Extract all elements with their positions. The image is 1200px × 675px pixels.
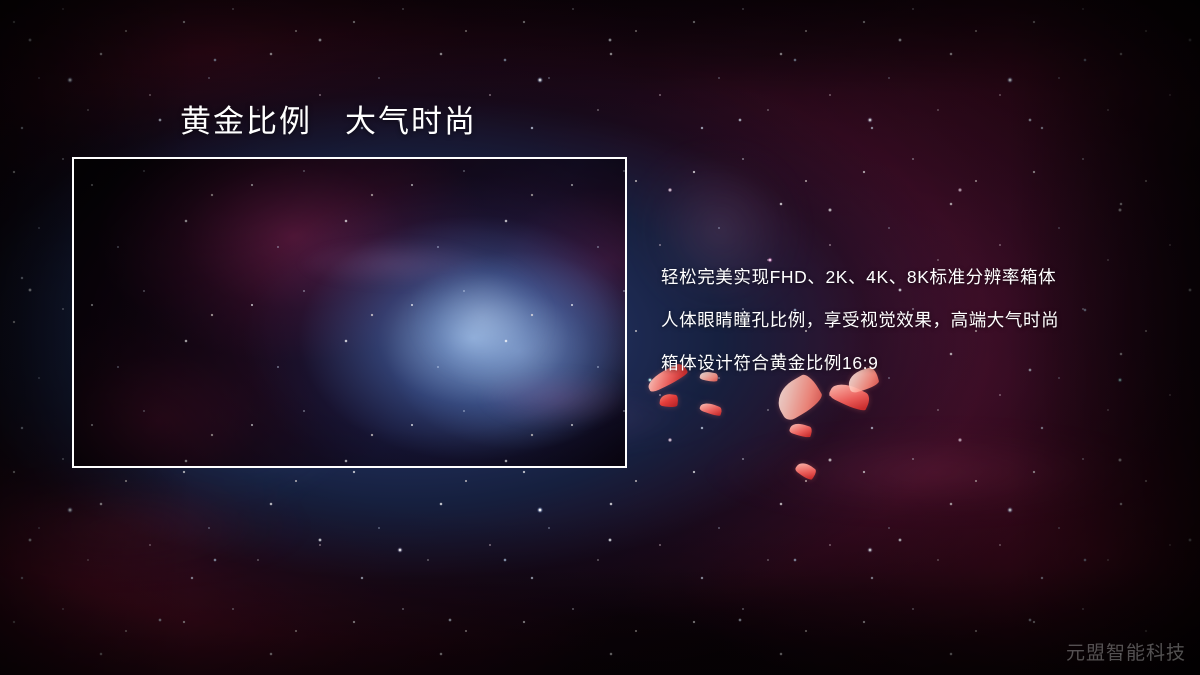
slide-title: 黄金比例 大气时尚 (180, 103, 477, 140)
flower-petal (794, 459, 818, 481)
body-line-1: 轻松完美实现FHD、2K、4K、8K标准分辨率箱体 (661, 256, 1153, 299)
flower-petal (659, 393, 679, 408)
framed-image-content (74, 159, 625, 466)
presentation-slide: 黄金比例 大气时尚 轻松完美实现FHD、2K、4K、8K标准分辨率箱体 人体眼睛… (0, 0, 1200, 675)
framed-image-vignette (74, 159, 625, 466)
flower-petal (789, 421, 814, 439)
watermark-text: 元盟智能科技 (1066, 638, 1186, 665)
body-line-3: 箱体设计符合黄金比例16:9 (661, 342, 1153, 385)
slide-body-copy: 轻松完美实现FHD、2K、4K、8K标准分辨率箱体 人体眼睛瞳孔比例，享受视觉效… (661, 256, 1153, 385)
framed-display-image (72, 157, 627, 468)
body-line-2: 人体眼睛瞳孔比例，享受视觉效果，高端大气时尚 (661, 299, 1153, 342)
flower-petal (699, 401, 723, 418)
